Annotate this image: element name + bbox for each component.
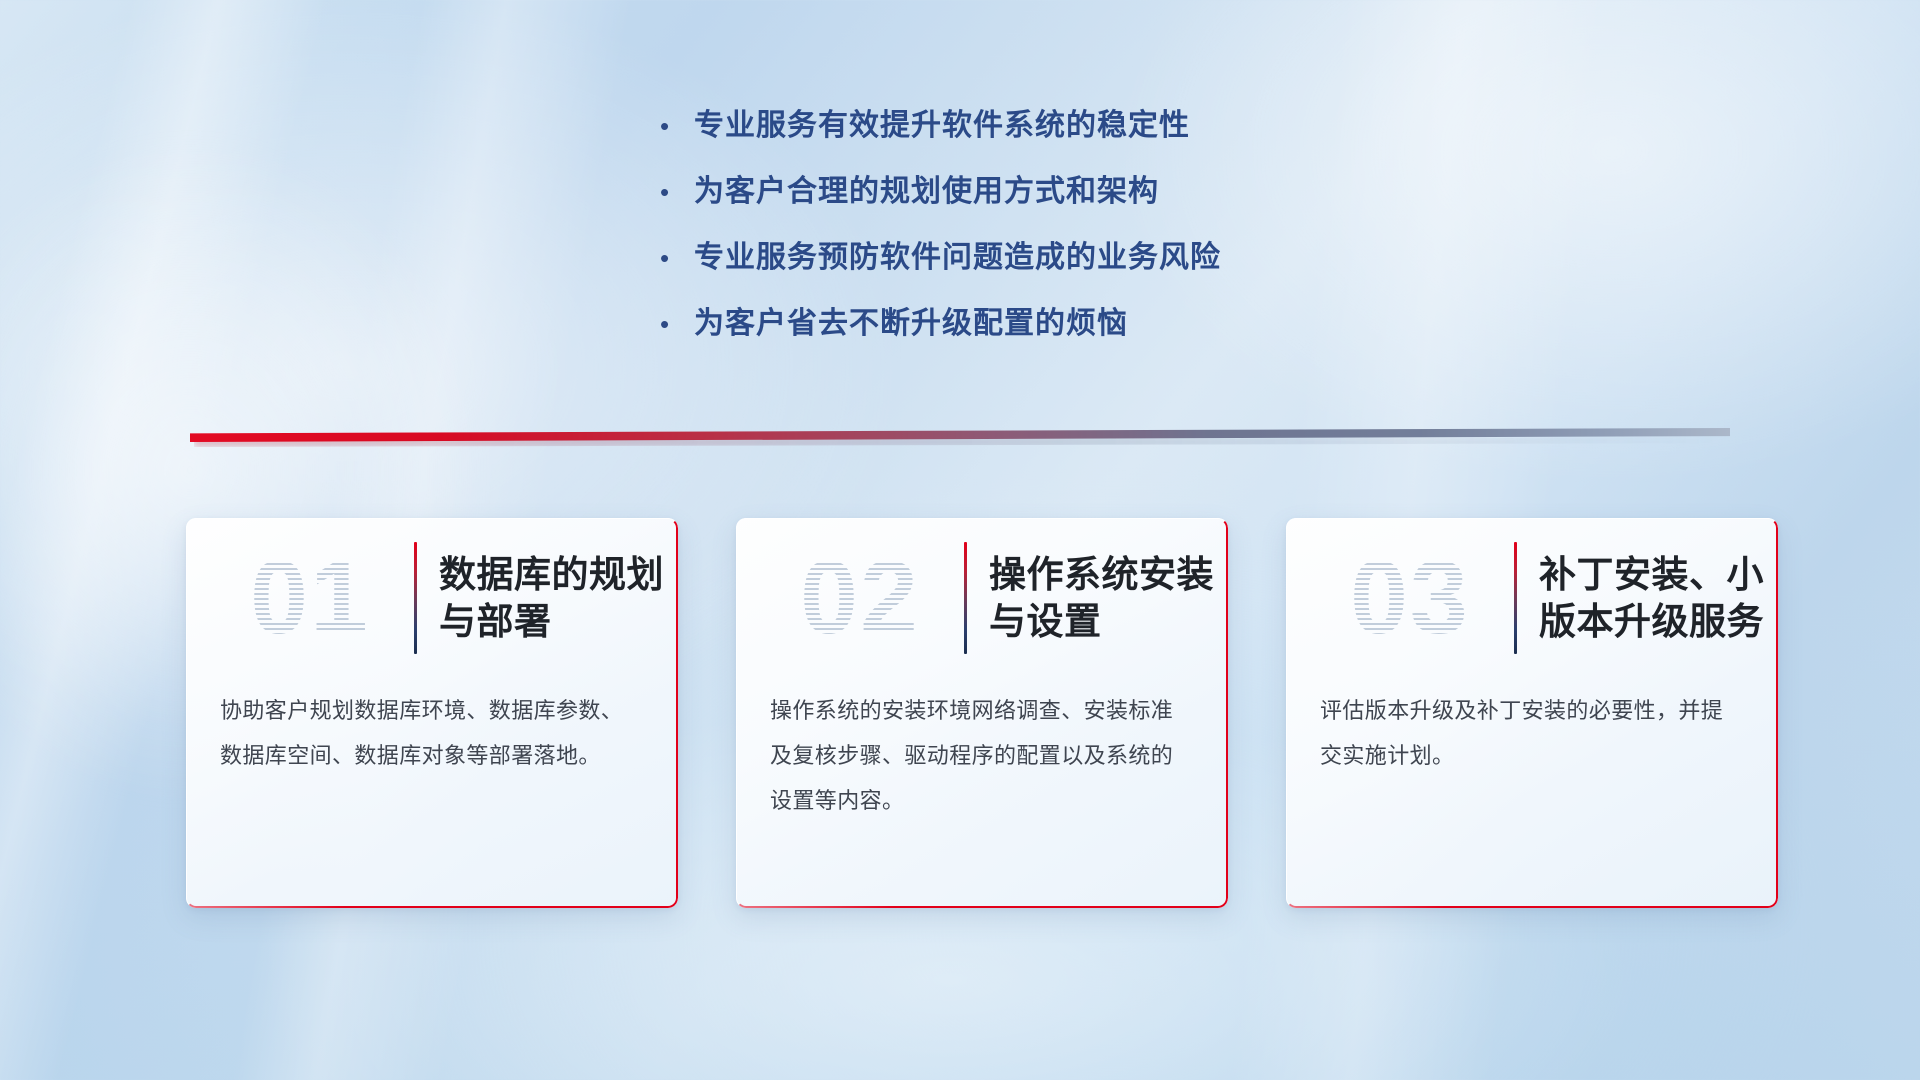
benefit-bullet-list: • 专业服务有效提升软件系统的稳定性 • 为客户合理的规划使用方式和架构 • 专… [660,108,1420,372]
card-title: 补丁安装、小版本升级服务 [1539,551,1778,646]
service-card[interactable]: 02 操作系统安装与设置 操作系统的安装环境网络调查、安装标准及复核步骤、驱动程… [736,518,1228,908]
card-title: 操作系统安装与设置 [989,551,1228,646]
list-item: • 专业服务有效提升软件系统的稳定性 [660,108,1420,144]
bullet-text: 为客户合理的规划使用方式和架构 [694,174,1159,210]
card-title-divider [964,542,967,654]
card-title-divider [414,542,417,654]
list-item: • 为客户省去不断升级配置的烦恼 [660,306,1420,342]
card-description: 协助客户规划数据库环境、数据库参数、数据库空间、数据库对象等部署落地。 [186,678,678,778]
service-card[interactable]: 03 补丁安装、小版本升级服务 评估版本升级及补丁安装的必要性，并提交实施计划。 [1286,518,1778,908]
card-number-watermark: 02 [760,546,960,650]
bullet-dot-icon: • [660,179,694,205]
service-card-group: 01 数据库的规划与部署 协助客户规划数据库环境、数据库参数、数据库空间、数据库… [186,518,1778,908]
card-number-watermark: 01 [210,546,410,650]
bullet-dot-icon: • [660,311,694,337]
bullet-dot-icon: • [660,113,694,139]
card-description: 评估版本升级及补丁安装的必要性，并提交实施计划。 [1286,678,1778,778]
card-description: 操作系统的安装环境网络调查、安装标准及复核步骤、驱动程序的配置以及系统的设置等内… [736,678,1228,823]
card-title: 数据库的规划与部署 [439,551,678,646]
section-divider [190,428,1730,444]
card-title-divider [1514,542,1517,654]
list-item: • 专业服务预防软件问题造成的业务风险 [660,240,1420,276]
list-item: • 为客户合理的规划使用方式和架构 [660,174,1420,210]
bullet-text: 为客户省去不断升级配置的烦恼 [694,306,1128,342]
bullet-text: 专业服务预防软件问题造成的业务风险 [694,240,1221,276]
service-card[interactable]: 01 数据库的规划与部署 协助客户规划数据库环境、数据库参数、数据库空间、数据库… [186,518,678,908]
card-header: 03 补丁安装、小版本升级服务 [1286,518,1778,678]
bullet-dot-icon: • [660,245,694,271]
card-header: 01 数据库的规划与部署 [186,518,678,678]
card-number-watermark: 03 [1310,546,1510,650]
card-header: 02 操作系统安装与设置 [736,518,1228,678]
bullet-text: 专业服务有效提升软件系统的稳定性 [694,108,1190,144]
slide-canvas: • 专业服务有效提升软件系统的稳定性 • 为客户合理的规划使用方式和架构 • 专… [0,0,1920,1080]
